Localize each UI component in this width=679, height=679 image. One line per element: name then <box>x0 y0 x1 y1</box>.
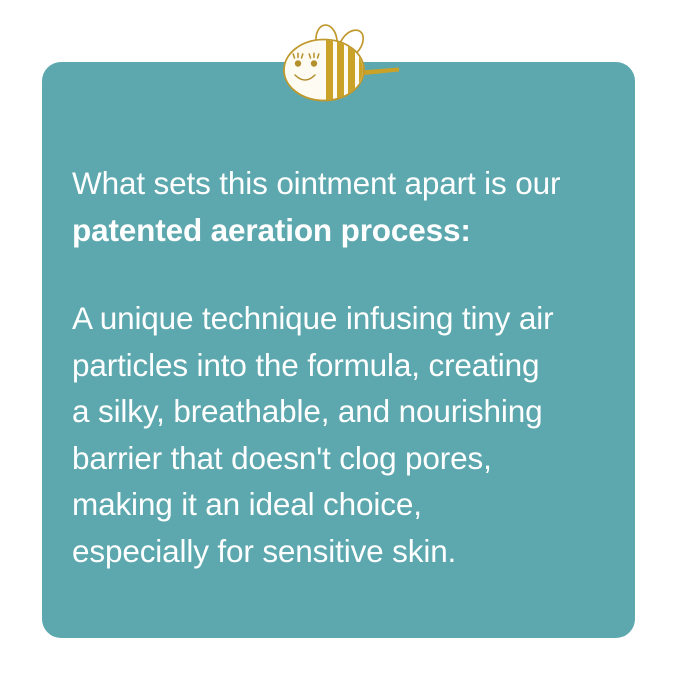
right-eye-icon <box>311 60 317 66</box>
bee-illustration <box>268 18 418 118</box>
card-copy: What sets this ointment apart is our pat… <box>72 160 617 574</box>
body-line-6: especially for sensitive skin. <box>72 528 617 575</box>
body-line-3: a silky, breathable, and nourishing <box>72 388 617 435</box>
heading-line-2: patented aeration process: <box>72 207 617 254</box>
paragraph-spacer <box>72 254 617 295</box>
heading-line-1: What sets this ointment apart is our <box>72 160 617 207</box>
left-eye-icon <box>295 60 301 66</box>
body-line-4: barrier that doesn't clog pores, <box>72 435 617 482</box>
body-line-2: particles into the formula, creating <box>72 342 617 389</box>
body-line-5: making it an ideal choice, <box>72 481 617 528</box>
promo-card-canvas: What sets this ointment apart is our pat… <box>0 0 679 679</box>
body-line-1: A unique technique infusing tiny air <box>72 295 617 342</box>
